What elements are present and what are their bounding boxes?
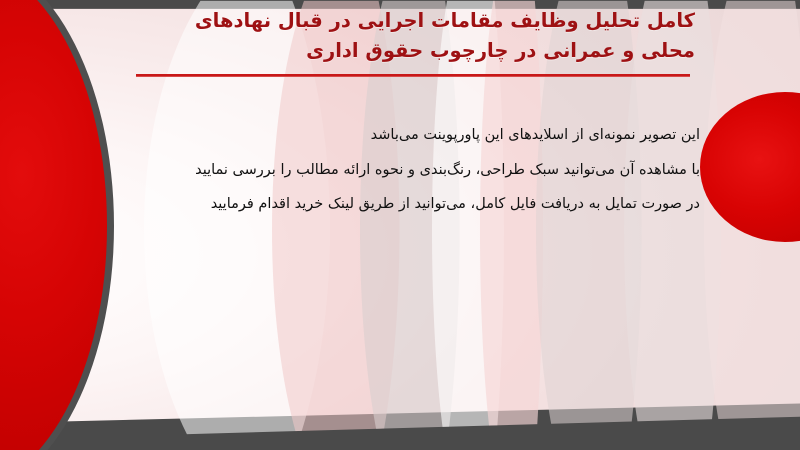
slide-body-text: این تصویر نمونه‌ای از اسلایدهای این پاور…: [110, 118, 700, 222]
slide-title: کامل تحلیل وظایف مقامات اجرایی در قبال ن…: [110, 6, 695, 65]
title-line-1: کامل تحلیل وظایف مقامات اجرایی در قبال ن…: [110, 6, 695, 36]
title-divider-rule: [136, 74, 690, 77]
presentation-slide: کامل تحلیل وظایف مقامات اجرایی در قبال ن…: [0, 0, 800, 450]
title-line-2: محلی و عمرانی در چارچوب حقوق اداری: [110, 36, 695, 66]
body-line-3: در صورت تمایل به دریافت فایل کامل، می‌تو…: [110, 187, 700, 222]
body-line-1: این تصویر نمونه‌ای از اسلایدهای این پاور…: [110, 118, 700, 153]
body-line-2: با مشاهده آن می‌توانید سبک طراحی، رنگ‌بن…: [110, 153, 700, 188]
